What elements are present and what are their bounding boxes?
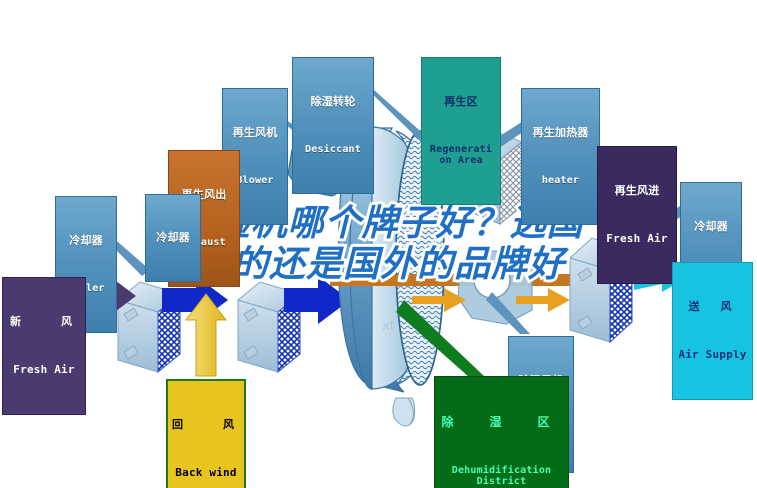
label-air-supply: 送 风 Air Supply <box>672 262 753 400</box>
label-regen-heater-en: heater <box>522 175 599 186</box>
label-desiccant: 除湿转轮 Desiccant <box>292 57 374 194</box>
diagram-canvas: xt <box>0 0 757 488</box>
label-cooler-right-cn: 冷却器 <box>681 221 741 233</box>
label-fresh-air-en: Fresh Air <box>3 364 85 376</box>
label-regeneration-area-en: Regenerati on Area <box>422 144 500 166</box>
label-cooler-mid-cn: 冷却器 <box>146 232 200 244</box>
label-regen-fresh-air-en: Fresh Air <box>598 233 676 245</box>
label-back-wind-en: Back wind <box>168 467 244 479</box>
label-back-wind-cn: 回 风 <box>168 419 244 431</box>
label-desiccant-cn: 除湿转轮 <box>293 96 373 108</box>
label-desiccant-en: Desiccant <box>293 144 373 155</box>
label-air-supply-en: Air Supply <box>673 349 752 361</box>
label-regen-fresh-air: 再生风进 Fresh Air <box>597 146 677 284</box>
label-regeneration-area: 再生区 Regenerati on Area <box>421 57 501 205</box>
label-fresh-air: 新 风 Fresh Air <box>2 277 86 415</box>
label-regen-heater: 再生加热器 heater <box>521 88 600 225</box>
label-back-wind: 回 风 Back wind <box>166 379 246 488</box>
label-dehumidification-district-cn: 除 湿 区 <box>435 416 568 429</box>
label-cooler-left-cn: 冷却器 <box>56 235 116 247</box>
label-regen-blower-cn: 再生风机 <box>223 127 287 139</box>
label-cooler-mid: 冷却器 <box>145 194 201 282</box>
label-regen-heater-cn: 再生加热器 <box>522 127 599 139</box>
label-regen-fresh-air-cn: 再生风进 <box>598 185 676 197</box>
label-dehumidification-district: 除 湿 区 Dehumidification District <box>434 376 569 488</box>
svg-text:xt: xt <box>382 319 395 334</box>
label-air-supply-cn: 送 风 <box>673 301 752 313</box>
label-dehumidification-district-en: Dehumidification District <box>435 465 568 487</box>
label-fresh-air-cn: 新 风 <box>3 316 85 328</box>
label-regeneration-area-cn: 再生区 <box>422 96 500 108</box>
